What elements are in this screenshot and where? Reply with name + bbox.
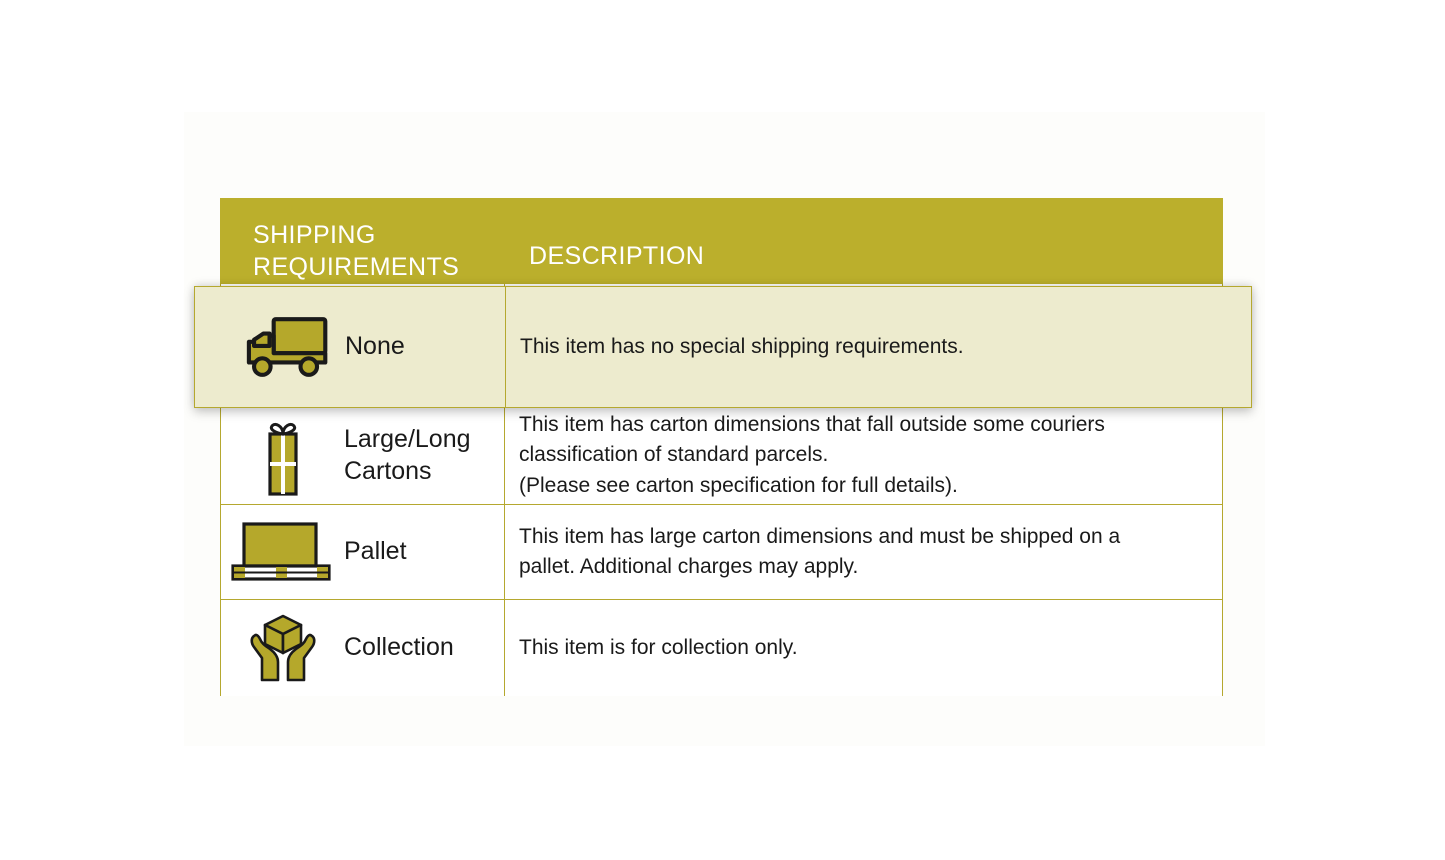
column-header-description: DESCRIPTION (529, 240, 704, 272)
cell-requirement: Pallet (221, 505, 505, 599)
table-row[interactable]: Collection This item is for collection o… (221, 600, 1222, 696)
table-row[interactable]: Large/Long Cartons This item has carton … (221, 407, 1222, 505)
cell-requirement: Large/Long Cartons (221, 407, 505, 504)
description-text: This item has no special shipping requir… (520, 332, 964, 362)
description-text: This item has large carton dimensions an… (519, 522, 1120, 583)
highlighted-table-row-none[interactable]: None This item has no special shipping r… (194, 286, 1252, 408)
cell-description: This item has large carton dimensions an… (505, 505, 1222, 599)
requirement-label: None (345, 331, 405, 363)
cell-requirement: Collection (221, 600, 505, 696)
tall-gift-carton-icon (221, 414, 344, 498)
requirement-label: Collection (344, 632, 454, 664)
delivery-truck-icon (222, 315, 345, 379)
cell-requirement: None (195, 287, 506, 407)
table-header: SHIPPING REQUIREMENTS DESCRIPTION (220, 198, 1223, 284)
shipping-requirements-table: SHIPPING REQUIREMENTS DESCRIPTION (220, 198, 1223, 696)
hands-holding-box-icon (221, 612, 344, 684)
pallet-icon (221, 522, 344, 582)
cell-description: This item has no special shipping requir… (506, 287, 1251, 407)
cell-description: This item has carton dimensions that fal… (505, 407, 1222, 504)
description-text: This item has carton dimensions that fal… (519, 410, 1105, 501)
description-text: This item is for collection only. (519, 633, 798, 663)
requirement-label: Large/Long Cartons (344, 424, 471, 487)
column-header-shipping-requirements: SHIPPING REQUIREMENTS (253, 219, 493, 283)
cell-description: This item is for collection only. (505, 600, 1222, 696)
requirement-label: Pallet (344, 536, 407, 568)
table-row[interactable]: Pallet This item has large carton dimens… (221, 505, 1222, 600)
